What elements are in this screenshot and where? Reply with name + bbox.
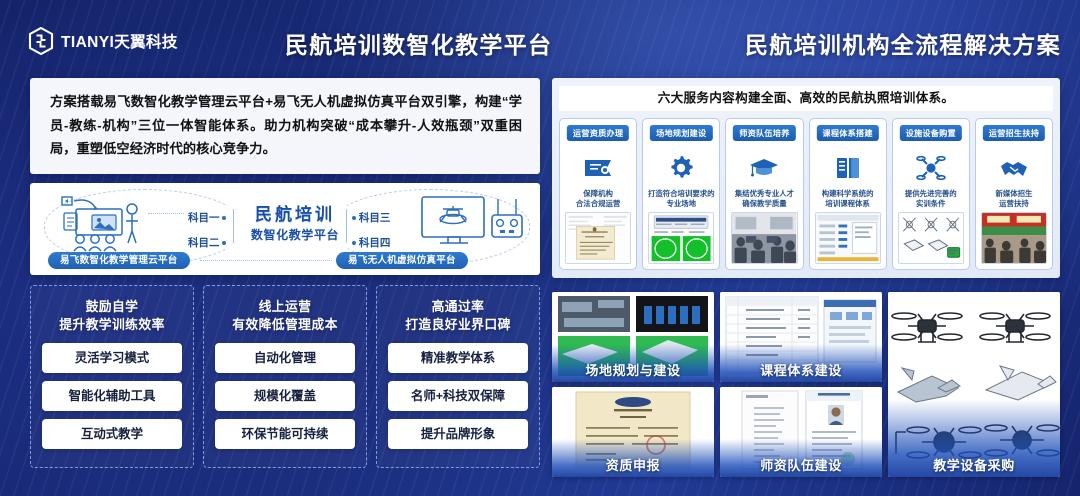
gallery-tile-3[interactable]: 资质申报 <box>552 387 714 477</box>
handshake-icon <box>976 153 1052 183</box>
classroom-students-photo <box>731 212 797 264</box>
benefit-card-title: 线上运营 有效降低管理成本 <box>215 298 355 334</box>
header-title-left: 民航培训数智化教学平台 <box>285 26 552 60</box>
benefit-card-2: 高通过率 打造良好业界口碑 精准教学体系 名师+科技双保障 提升品牌形象 <box>376 285 540 468</box>
service-card-desc: 保障机构 合法合规运营 <box>563 189 633 209</box>
service-card-desc: 构建科学系统的 培训课程体系 <box>813 189 883 209</box>
benefit-item[interactable]: 环保节能可持续 <box>215 419 355 449</box>
gallery-label: 场地规划与建设 <box>552 360 714 379</box>
diagram-center-title: 民航培训 数智化教学平台 <box>248 205 342 243</box>
classroom-teaching-icon <box>54 191 174 253</box>
service-card-badge: 场地规划建设 <box>650 125 712 141</box>
service-card-badge: 运营资质办理 <box>567 125 629 141</box>
service-card-4[interactable]: 设施设备购置 <box>892 118 970 270</box>
benefit-item[interactable]: 规模化覆盖 <box>215 381 355 411</box>
benefit-card-title: 鼓励自学 提升教学训练效率 <box>42 298 182 334</box>
service-card-1[interactable]: 场地规划建设 打造符合培训要求的 专业场地 <box>642 118 720 270</box>
gallery-label: 资质申报 <box>552 455 714 474</box>
service-card-desc: 打造符合培训要求的 专业场地 <box>646 189 716 209</box>
benefit-title-line1: 线上运营 <box>215 298 355 316</box>
service-card-badge: 设施设备购置 <box>900 125 962 141</box>
enrollment-event-photo <box>981 212 1047 264</box>
service-card-2[interactable]: 师资队伍培养 集结优秀专业人才 确保教学质量 <box>725 118 803 270</box>
benefit-title-line1: 高通过率 <box>388 298 528 316</box>
drone-simulator-monitor-icon <box>418 193 526 253</box>
service-card-desc: 提供先进完善的 实训条件 <box>896 189 966 209</box>
diagram-pill-left[interactable]: 易飞数智化教学管理云平台 <box>48 252 190 269</box>
intro-text: 方案搭载易飞数智化教学管理云平台+易飞无人机虚拟仿真平台双引擎，构建“学员-教练… <box>50 90 522 161</box>
bullet-dot-icon <box>222 216 226 220</box>
hexagon-tianyi-logo-icon <box>28 27 54 55</box>
gallery-tile-0[interactable]: 场地规划与建设 <box>552 292 714 382</box>
left-column: 方案搭载易飞数智化教学管理云平台+易飞无人机虚拟仿真平台双引擎，构建“学员-教练… <box>30 78 540 478</box>
qualification-certificate-photo <box>565 212 631 264</box>
brand-name: TIANYI天翼科技 <box>61 30 178 52</box>
right-column: 六大服务内容构建全面、高效的民航执照培训体系。 运营资质办理 <box>552 78 1060 278</box>
diagram-subject-3: 科目三 <box>352 210 390 225</box>
drone-models-photo <box>898 212 964 264</box>
bullet-dot-icon <box>222 241 226 245</box>
diagram-center-line2: 数智化教学平台 <box>248 227 342 243</box>
diagram-subject-1: 科目一 <box>188 210 226 225</box>
page-header: TIANYI天翼科技 民航培训数智化教学平台 民航培训机构全流程解决方案 <box>0 0 1080 74</box>
diagram-subject-2: 科目二 <box>188 235 226 250</box>
benefit-card-row: 鼓励自学 提升教学训练效率 灵活学习模式 智能化辅助工具 互动式教学 线上运营 … <box>30 285 540 468</box>
slide-canvas: TIANYI天翼科技 民航培训数智化教学平台 民航培训机构全流程解决方案 方案搭… <box>0 0 1080 496</box>
training-field-layout-photo <box>648 212 714 264</box>
benefit-title-line2: 有效降低管理成本 <box>215 316 355 334</box>
benefit-item[interactable]: 自动化管理 <box>215 343 355 373</box>
diagram-dotted-connector-bottom <box>200 260 332 261</box>
service-card-5[interactable]: 运营招生扶持 新媒体招生 运营扶持 <box>975 118 1053 270</box>
header-title-right: 民航培训机构全流程解决方案 <box>745 26 1061 60</box>
benefit-title-line2: 打造良好业界口碑 <box>388 316 528 334</box>
books-icon <box>810 153 886 183</box>
benefit-item[interactable]: 灵活学习模式 <box>42 343 182 373</box>
gallery-label: 课程体系建设 <box>720 360 882 379</box>
bullet-dot-icon <box>352 216 356 220</box>
gallery-label: 师资队伍建设 <box>720 455 882 474</box>
benefit-item[interactable]: 提升品牌形象 <box>388 419 528 449</box>
intro-box: 方案搭载易飞数智化教学管理云平台+易飞无人机虚拟仿真平台双引擎，构建“学员-教练… <box>30 78 540 174</box>
benefit-card-0: 鼓励自学 提升教学训练效率 灵活学习模式 智能化辅助工具 互动式教学 <box>30 285 194 468</box>
benefit-item[interactable]: 智能化辅助工具 <box>42 381 182 411</box>
benefit-title-line1: 鼓励自学 <box>42 298 182 316</box>
benefit-item[interactable]: 精准教学体系 <box>388 343 528 373</box>
certificate-seal-icon <box>560 153 636 183</box>
benefit-item[interactable]: 名师+科技双保障 <box>388 381 528 411</box>
graduation-cap-icon <box>726 153 802 183</box>
gallery-grid: 场地规划与建设 <box>552 292 1060 482</box>
service-card-0[interactable]: 运营资质办理 保障机构 合法合规运营 <box>559 118 637 270</box>
service-card-row: 运营资质办理 保障机构 合法合规运营 <box>559 118 1053 270</box>
benefit-card-title: 高通过率 打造良好业界口碑 <box>388 298 528 334</box>
course-system-screen-photo <box>815 212 881 264</box>
diagram-dotted-connector-top <box>148 213 184 214</box>
benefit-item[interactable]: 互动式教学 <box>42 419 182 449</box>
benefit-card-1: 线上运营 有效降低管理成本 自动化管理 规模化覆盖 环保节能可持续 <box>203 285 367 468</box>
diagram-vline-left <box>233 209 234 243</box>
diagram-pill-right[interactable]: 易飞无人机虚拟仿真平台 <box>336 252 468 269</box>
benefit-title-line2: 提升教学训练效率 <box>42 316 182 334</box>
diagram-center-line1: 民航培训 <box>248 205 342 225</box>
gear-icon <box>643 153 719 183</box>
services-panel: 六大服务内容构建全面、高效的民航执照培训体系。 运营资质办理 <box>552 78 1060 278</box>
platform-diagram: 科目一 科目二 科目三 科目四 民航培训 数智化教学平台 易飞数智化教学管理云平… <box>30 183 540 275</box>
bullet-dot-icon <box>352 241 356 245</box>
service-card-badge: 运营招生扶持 <box>983 125 1045 141</box>
gallery-tile-2[interactable]: 教学设备采购 <box>888 292 1060 477</box>
drone-icon <box>893 153 969 183</box>
diagram-vline-right <box>346 209 347 243</box>
gallery-tile-4[interactable]: 师资队伍建设 <box>720 387 882 477</box>
service-card-badge: 课程体系搭建 <box>816 125 878 141</box>
service-card-3[interactable]: 课程体系搭建 构建科学系统的 培训课程体系 <box>809 118 887 270</box>
services-headline: 六大服务内容构建全面、高效的民航执照培训体系。 <box>559 86 1053 111</box>
gallery-label: 教学设备采购 <box>888 455 1060 474</box>
brand-logo[interactable]: TIANYI天翼科技 <box>28 27 178 55</box>
service-card-desc: 新媒体招生 运营扶持 <box>979 189 1049 209</box>
service-card-desc: 集结优秀专业人才 确保教学质量 <box>729 189 799 209</box>
diagram-subject-4: 科目四 <box>352 235 390 250</box>
service-card-badge: 师资队伍培养 <box>733 125 795 141</box>
gallery-tile-1[interactable]: 课程体系建设 <box>720 292 882 382</box>
